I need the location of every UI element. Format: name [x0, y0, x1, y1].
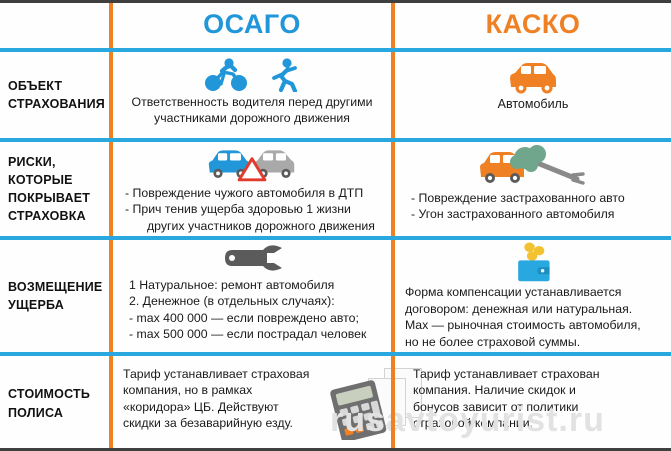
text-line: - Повреждение застрахованного авто — [411, 190, 665, 206]
row-separator-1 — [0, 48, 671, 52]
row-separator-4 — [0, 352, 671, 356]
kasko-object-text: Автомобиль — [498, 97, 569, 111]
text-line: - max 500 000 — если пострадал человек — [129, 326, 385, 342]
kasko-price-text: Тариф устанавливает страхован компания. … — [413, 366, 665, 432]
row-separator-3 — [0, 236, 671, 240]
row-label-risks: РИСКИ, КОТОРЫЕ ПОКРЫВАЕТ СТРАХОВКА — [0, 142, 109, 236]
wrench-icon — [220, 244, 284, 272]
osago-object-text: Ответственность водителя перед другими у… — [132, 94, 373, 127]
text-line: 2. Денежное (в отдельных случаях): — [129, 293, 385, 309]
text-line: других участников дорожного движения — [125, 218, 385, 234]
text-line: - Угон застрахованного автомобиля — [411, 206, 665, 222]
runner-icon — [267, 58, 301, 92]
text-line: - Прич тенив ущерба здоровью 1 жизни — [125, 201, 385, 217]
text-line: компания. Наличие скидок и — [413, 382, 665, 398]
text-line: Ответственность водителя перед другими — [132, 94, 373, 110]
row-label-line: УЩЕРБА — [8, 298, 64, 312]
column-header-osago: ОСАГО — [113, 9, 391, 40]
row-label-line: СТРАХОВАНИЯ — [8, 97, 105, 111]
text-line: Форма компенсации устанавливается — [405, 284, 665, 300]
cell-kasko-object: Автомобиль — [395, 52, 671, 138]
kasko-risks-text: - Повреждение застрахованного авто - Уго… — [401, 190, 665, 223]
cell-kasko-risks: - Повреждение застрахованного авто - Уго… — [395, 142, 671, 236]
wallet-coins-icon — [506, 242, 560, 282]
car-icon — [505, 60, 561, 96]
cell-kasko-price: Тариф устанавливает страхован компания. … — [395, 356, 671, 451]
text-line: 1 Натуральное: ремонт автомобиля — [129, 277, 385, 293]
row-label-line: СТОИМОСТЬ — [8, 387, 90, 401]
column-divider-right — [391, 3, 395, 448]
row-label-object: ОБЪЕКТ СТРАХОВАНИЯ — [0, 52, 109, 138]
cell-osago-compensation: 1 Натуральное: ремонт автомобиля 2. Дене… — [113, 240, 391, 352]
row-label-line: ПОЛИСА — [8, 406, 63, 420]
comparison-infographic: ОСАГО КАСКО ОБЪЕКТ СТРАХОВАНИЯ — [0, 0, 671, 451]
cyclist-icon — [203, 58, 251, 92]
column-divider-left — [109, 3, 113, 448]
text-line: участниками дорожного движения — [132, 110, 373, 126]
two-cars-collision-icon — [198, 144, 306, 183]
text-line: - Повреждение чужого автомобиля в ДТП — [125, 185, 385, 201]
osago-risks-text: - Повреждение чужого автомобиля в ДТП - … — [119, 185, 385, 234]
car-fallen-tree-icon — [473, 144, 593, 188]
cell-osago-risks: - Повреждение чужого автомобиля в ДТП - … — [113, 142, 391, 236]
kasko-compensation-text: Форма компенсации устанавливается догово… — [401, 284, 665, 350]
row-label-line: ВОЗМЕЩЕНИЕ — [8, 280, 102, 294]
row-label-line: СТРАХОВКА — [8, 209, 86, 223]
calculator-icon — [327, 380, 391, 440]
text-line: договором: денежная или натуральная. — [405, 301, 665, 317]
row-label-line: ОБЪЕКТ — [8, 79, 62, 93]
row-separator-2 — [0, 138, 671, 142]
row-label-line: ПОКРЫВАЕТ — [8, 191, 90, 205]
row-label-line: КОТОРЫЕ — [8, 173, 73, 187]
text-line: страховой компании. — [413, 415, 665, 431]
row-label-line: РИСКИ, — [8, 155, 56, 169]
text-line: Max — рыночная стоимость автомобиля, — [405, 317, 665, 333]
row-label-compensation: ВОЗМЕЩЕНИЕ УЩЕРБА — [0, 240, 109, 352]
cell-kasko-compensation: Форма компенсации устанавливается догово… — [395, 240, 671, 352]
text-line: бонусов зависит от политики — [413, 399, 665, 415]
column-header-kasko: КАСКО — [395, 9, 671, 40]
cell-osago-object: Ответственность водителя перед другими у… — [113, 52, 391, 138]
text-line: - max 400 000 — если повреждено авто; — [129, 310, 385, 326]
text-line: но не более страховой суммы. — [405, 334, 665, 350]
text-line: Тариф устанавливает страхован — [413, 366, 665, 382]
row-label-price: СТОИМОСТЬ ПОЛИСА — [0, 356, 109, 451]
osago-compensation-text: 1 Натуральное: ремонт автомобиля 2. Дене… — [119, 277, 385, 343]
